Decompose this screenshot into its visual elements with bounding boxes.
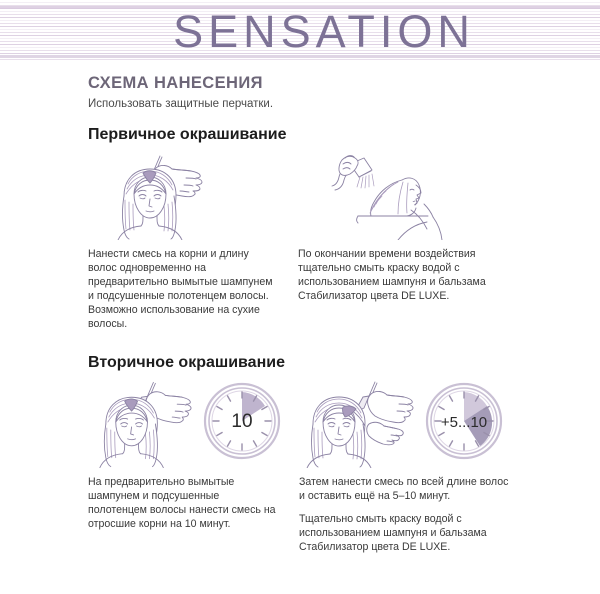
illustration-woman-applying-color-brush: [88, 152, 280, 240]
page-subtitle: Использовать защитные перчатки.: [88, 98, 512, 110]
brand-name: SENSATION: [173, 9, 475, 54]
section-primary-coloring: Первичное окрашивание: [88, 126, 512, 332]
illustration-group: 10: [88, 380, 281, 468]
section-spacer: [88, 336, 512, 354]
section-columns: Нанести смесь на корни и длину волос одн…: [88, 152, 512, 332]
section-columns: 10 На предварительно вымытые шампунем и …: [88, 380, 512, 555]
section-secondary-coloring: Вторичное окрашивание: [88, 354, 512, 555]
timer-dial-value: 10: [231, 411, 252, 432]
step-text: По окончании времени воздействия тщатель…: [298, 248, 512, 304]
illustration-group: +5...10: [299, 380, 512, 468]
timer-dial-value: +5...10: [441, 414, 487, 431]
illustration-woman-applying-color-roots: [88, 380, 197, 468]
section-heading: Вторичное окрашивание: [88, 354, 512, 372]
step-text: Затем нанести смесь по всей длине волос …: [299, 476, 512, 504]
brand-logo: SENSATION: [0, 0, 600, 62]
step-text: Нанести смесь на корни и длину волос одн…: [88, 248, 280, 332]
step-text: На предварительно вымытые шампунем и под…: [88, 476, 281, 532]
illustration-woman-applying-color-lengths: [299, 380, 419, 468]
page-title: СХЕМА НАНЕСЕНИЯ: [88, 74, 512, 93]
illustration-woman-rinsing-hair-shower: [298, 152, 512, 240]
step-column: Нанести смесь на корни и длину волос одн…: [88, 152, 280, 332]
document-body: СХЕМА НАНЕСЕНИЯ Использовать защитные пе…: [0, 62, 512, 555]
step-column: По окончании времени воздействия тщатель…: [298, 152, 512, 332]
section-heading: Первичное окрашивание: [88, 126, 512, 144]
step-text: Тщательно смыть краску водой с использов…: [299, 513, 512, 555]
step-column: +5...10 Затем нанести смесь по всей длин…: [299, 380, 512, 555]
timer-dial-plus-5-10: +5...10: [425, 382, 503, 465]
step-column: 10 На предварительно вымытые шампунем и …: [88, 380, 281, 555]
timer-dial-10: 10: [203, 382, 281, 465]
brand-banner: SENSATION: [0, 0, 600, 62]
